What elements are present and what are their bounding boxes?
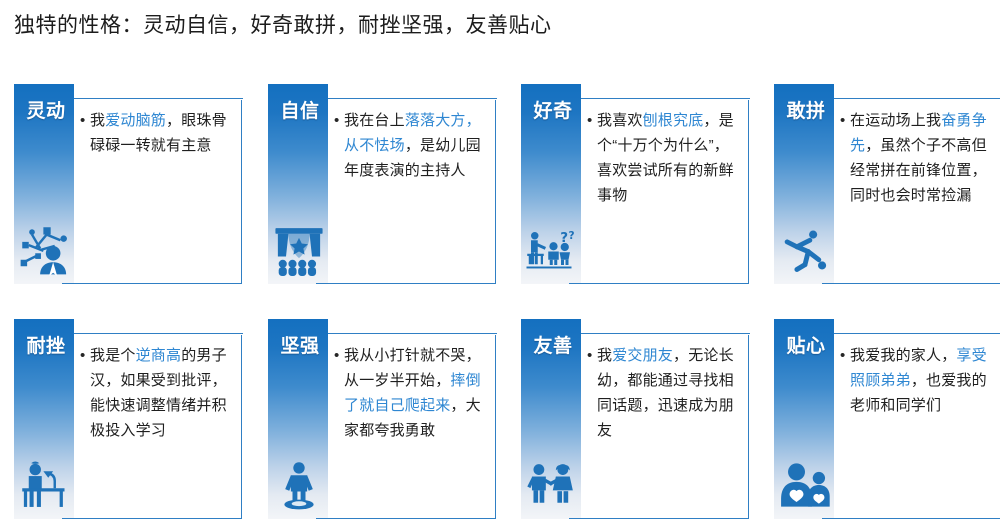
card-description: 在运动场上我奋勇争先，虽然个子不高但经常拼在前锋位置，同时也会时常捡漏 <box>850 108 991 208</box>
bullet-icon: • <box>840 343 850 368</box>
list-item: •我爱动脑筋，眼珠骨碌碌一转就有主意 <box>80 108 231 158</box>
list-item: •我爱交朋友，无论长幼，都能通过寻找相同话题，迅速成为朋友 <box>587 343 738 443</box>
bullet-icon: • <box>587 343 597 368</box>
card-zixin[interactable]: 自信 •我在台上落落大方，从不怯场，是幼儿园年度表演的主持人 <box>268 84 496 284</box>
bullet-icon: • <box>587 108 597 133</box>
bullet-icon: • <box>80 343 90 368</box>
personality-card-grid: 灵动 •我爱动脑筋，眼珠骨碌碌一转就有主意 自信 •我在台上落落大方，从不怯场，… <box>0 84 1000 527</box>
card-description: 我爱动脑筋，眼珠骨碌碌一转就有主意 <box>90 108 231 158</box>
list-item: •我爱我的家人，享受照顾弟弟，也爱我的老师和同学们 <box>840 343 991 418</box>
card-description: 我是个逆商高的男子汉，如果受到批评，能快速调整情绪并积极投入学习 <box>90 343 231 443</box>
list-item: •我从小打针就不哭，从一岁半开始，摔倒了就自己爬起来，大家都夸我勇敢 <box>334 343 485 443</box>
description-segment: 我在台上 <box>344 112 405 129</box>
highlighted-phrase: 爱动脑筋 <box>105 112 166 129</box>
description-segment: 我 <box>90 112 105 129</box>
card-naicuo[interactable]: 耐挫 •我是个逆商高的男子汉，如果受到批评，能快速调整情绪并积极投入学习 <box>14 319 242 519</box>
card-description: 我喜欢刨根究底，是个“十万个为什么”，喜欢尝试所有的新鲜事物 <box>597 108 738 208</box>
card-youshan[interactable]: 友善 •我爱交朋友，无论长幼，都能通过寻找相同话题，迅速成为朋友 <box>521 319 749 519</box>
card-lingdong[interactable]: 灵动 •我爱动脑筋，眼珠骨碌碌一转就有主意 <box>14 84 242 284</box>
card-description: 我从小打针就不哭，从一岁半开始，摔倒了就自己爬起来，大家都夸我勇敢 <box>344 343 485 443</box>
list-item: •我是个逆商高的男子汉，如果受到批评，能快速调整情绪并积极投入学习 <box>80 343 231 443</box>
card-tiexin[interactable]: 贴心 •我爱我的家人，享受照顾弟弟，也爱我的老师和同学们 <box>774 319 1000 519</box>
card-row-2: 耐挫 •我是个逆商高的男子汉，如果受到批评，能快速调整情绪并积极投入学习 坚强 … <box>0 319 1000 527</box>
card-description: 我爱交朋友，无论长幼，都能通过寻找相同话题，迅速成为朋友 <box>597 343 738 443</box>
description-segment: 我喜欢 <box>597 112 643 129</box>
list-item: •我喜欢刨根究底，是个“十万个为什么”，喜欢尝试所有的新鲜事物 <box>587 108 738 208</box>
page-title: 独特的性格：灵动自信，好奇敢拼，耐挫坚强，友善贴心 <box>14 11 552 41</box>
description-segment: ，虽然个子不高但经常拼在前锋位置，同时也会时常捡漏 <box>850 137 987 204</box>
bullet-icon: • <box>334 108 344 133</box>
bullet-icon: • <box>840 108 850 133</box>
description-segment: 我爱我的家人， <box>850 347 956 364</box>
card-jianqiang[interactable]: 坚强 •我从小打针就不哭，从一岁半开始，摔倒了就自己爬起来，大家都夸我勇敢 <box>268 319 496 519</box>
list-item: •在运动场上我奋勇争先，虽然个子不高但经常拼在前锋位置，同时也会时常捡漏 <box>840 108 991 208</box>
svg-text:?: ? <box>560 230 568 246</box>
card-content-box: •我在台上落落大方，从不怯场，是幼儿园年度表演的主持人 <box>316 100 496 284</box>
description-segment: 我是个 <box>90 347 136 364</box>
card-description: 我在台上落落大方，从不怯场，是幼儿园年度表演的主持人 <box>344 108 485 183</box>
card-description: 我爱我的家人，享受照顾弟弟，也爱我的老师和同学们 <box>850 343 991 418</box>
bullet-icon: • <box>334 343 344 368</box>
highlighted-phrase: 爱交朋友 <box>612 347 673 364</box>
card-ganpin[interactable]: 敢拼 •在运动场上我奋勇争先，虽然个子不高但经常拼在前锋位置，同时也会时常捡漏 <box>774 84 1000 284</box>
card-content-box: •我爱动脑筋，眼珠骨碌碌一转就有主意 <box>62 100 242 284</box>
card-content-box: •在运动场上我奋勇争先，虽然个子不高但经常拼在前锋位置，同时也会时常捡漏 <box>822 100 1000 284</box>
highlighted-phrase: 逆商高 <box>136 347 182 364</box>
card-content-box: •我是个逆商高的男子汉，如果受到批评，能快速调整情绪并积极投入学习 <box>62 335 242 519</box>
list-item: •我在台上落落大方，从不怯场，是幼儿园年度表演的主持人 <box>334 108 485 183</box>
card-row-1: 灵动 •我爱动脑筋，眼珠骨碌碌一转就有主意 自信 •我在台上落落大方，从不怯场，… <box>0 84 1000 292</box>
card-haoqi[interactable]: 好奇 ? ? •我喜欢刨根究底，是个“十万个为什么”，喜欢尝试所有的新鲜事物 <box>521 84 749 284</box>
card-content-box: •我爱我的家人，享受照顾弟弟，也爱我的老师和同学们 <box>822 335 1000 519</box>
card-content-box: •我从小打针就不哭，从一岁半开始，摔倒了就自己爬起来，大家都夸我勇敢 <box>316 335 496 519</box>
description-segment: 我 <box>597 347 612 364</box>
highlighted-phrase: 刨根究底 <box>643 112 704 129</box>
bullet-icon: • <box>80 108 90 133</box>
card-content-box: •我喜欢刨根究底，是个“十万个为什么”，喜欢尝试所有的新鲜事物 <box>569 100 749 284</box>
description-segment: 在运动场上我 <box>850 112 941 129</box>
card-content-box: •我爱交朋友，无论长幼，都能通过寻找相同话题，迅速成为朋友 <box>569 335 749 519</box>
